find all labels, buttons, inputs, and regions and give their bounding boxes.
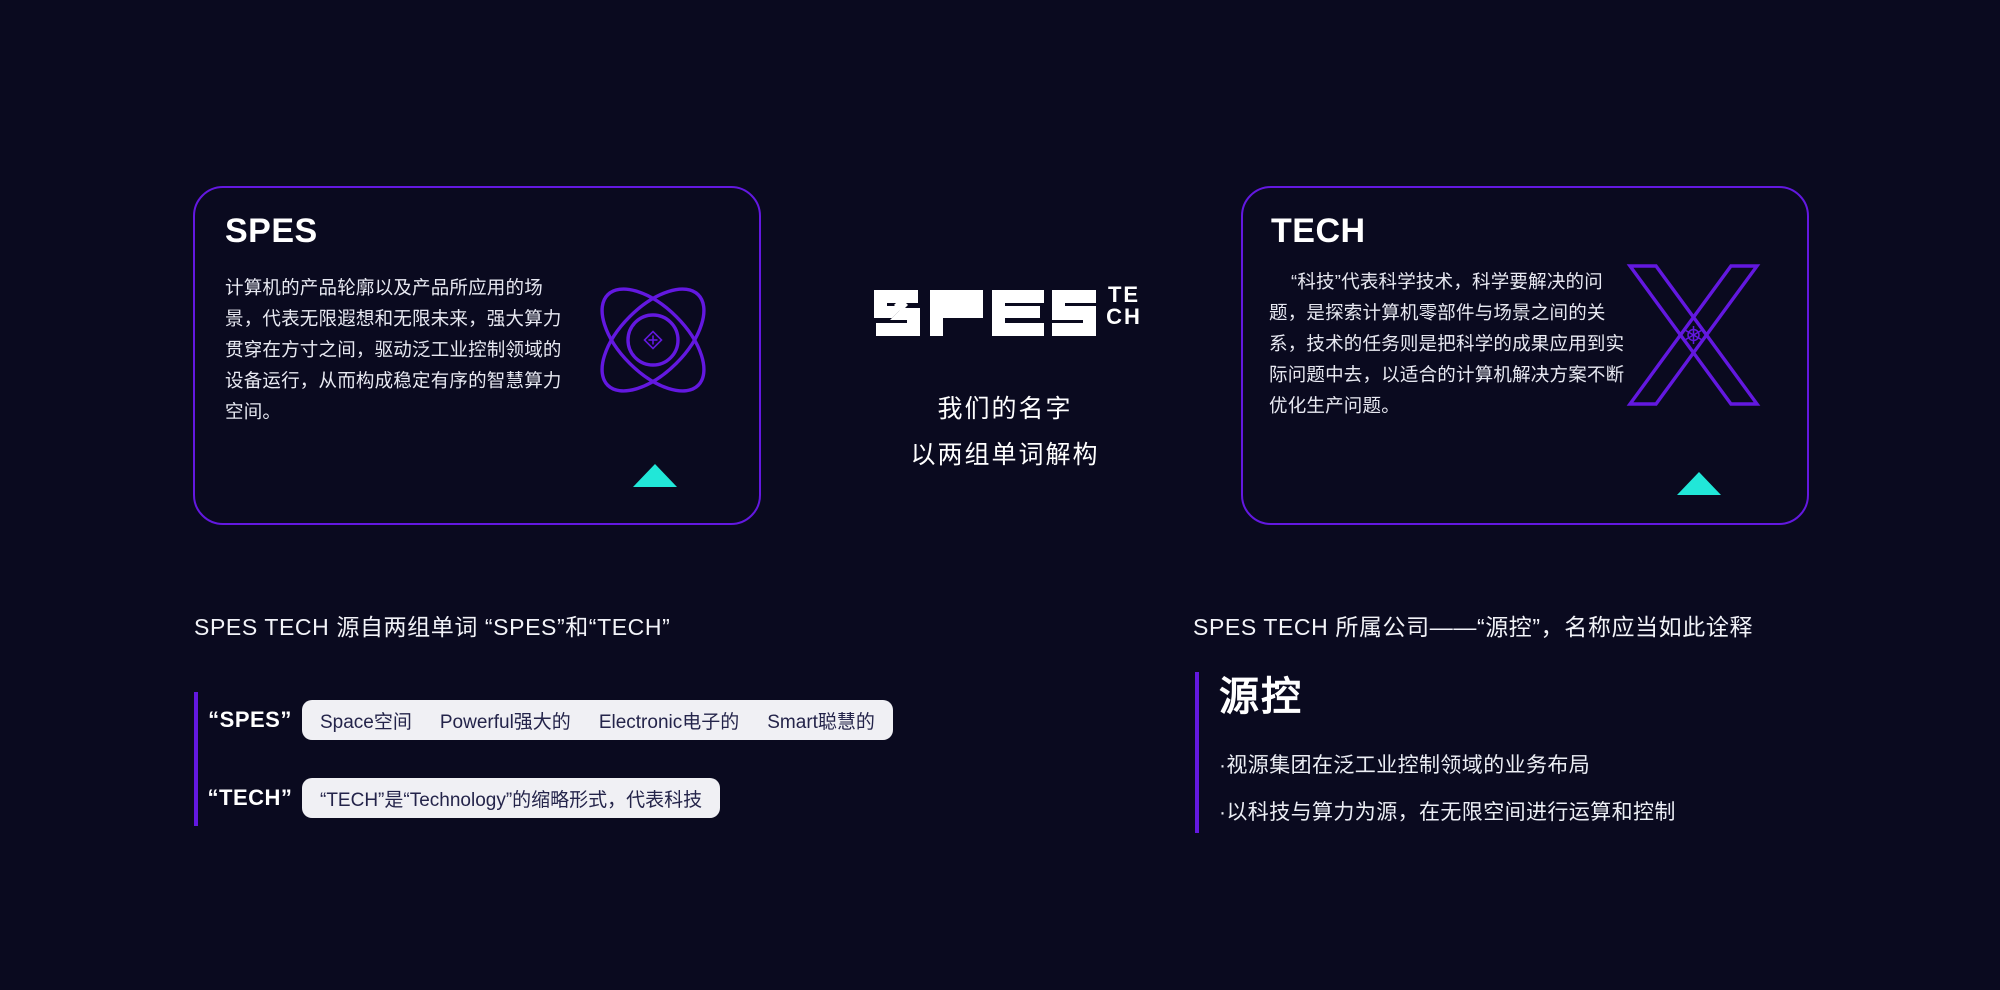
- company-bullet-list: ·视源集团在泛工业控制领域的业务布局 ·以科技与算力为源，在无限空间进行运算和控…: [1219, 746, 1895, 833]
- center-tagline: 我们的名字 以两组单词解构: [855, 386, 1155, 478]
- center-logo-block: TE CH 我们的名字 以两组单词解构: [855, 282, 1155, 478]
- card-spes-body: 计算机的产品轮廓以及产品所应用的场景，代表无限遐想和无限未来，强大算力贯穿在方寸…: [225, 272, 572, 427]
- logo-sub-bottom: CH: [1106, 306, 1142, 328]
- logo-sub-top: TE: [1106, 284, 1142, 306]
- list-item: ·视源集团在泛工业控制领域的业务布局: [1219, 746, 1895, 786]
- card-spes-title: SPES: [225, 212, 318, 251]
- atom-orbital-icon: [583, 270, 723, 410]
- x-mark-icon: [1626, 260, 1761, 410]
- breakdown-row-spes: “SPES” Space空间 Powerful强大的 Electronic电子的…: [198, 692, 1014, 748]
- section-heading-right: SPES TECH 所属公司——“源控”，名称应当如此诠释: [1193, 608, 1753, 642]
- breakdown-key-tech: “TECH”: [198, 785, 302, 811]
- poster-canvas: SPES 计算机的产品轮廓以及产品所应用的场景，代表无限遐想和无限未来，强大算力…: [0, 0, 2000, 990]
- card-tech-body: “科技”代表科学技术，科学要解决的问题，是探索计算机零部件与场景之间的关系，技术…: [1269, 266, 1629, 421]
- breakdown-pill-spes: Space空间 Powerful强大的 Electronic电子的 Smart聪…: [302, 700, 893, 740]
- breakdown-row-tech: “TECH” “TECH”是“Technology”的缩略形式，代表科技: [198, 770, 1014, 826]
- cyan-triangle-icon: [633, 464, 677, 487]
- breakdown-key-spes: “SPES”: [198, 707, 302, 733]
- pill-item: Powerful强大的: [440, 707, 571, 734]
- spes-tech-breakdown-list: “SPES” Space空间 Powerful强大的 Electronic电子的…: [194, 692, 1014, 826]
- pill-item: Smart聪慧的: [767, 707, 875, 734]
- company-brand-name: 源控: [1219, 672, 1895, 722]
- spes-tech-logo: TE CH: [855, 282, 1155, 344]
- cyan-triangle-icon: [1677, 472, 1721, 495]
- company-brand-block: 源控 ·视源集团在泛工业控制领域的业务布局 ·以科技与算力为源，在无限空间进行运…: [1195, 672, 1895, 833]
- spes-wordmark-icon: [868, 282, 1096, 344]
- pill-item: Space空间: [320, 707, 412, 734]
- card-tech-title: TECH: [1271, 212, 1366, 251]
- tagline-line-1: 我们的名字: [855, 386, 1155, 432]
- tech-wordmark-stack: TE CH: [1106, 282, 1142, 329]
- breakdown-pill-tech: “TECH”是“Technology”的缩略形式，代表科技: [302, 778, 720, 818]
- section-heading-left: SPES TECH 源自两组单词 “SPES”和“TECH”: [194, 608, 670, 642]
- card-tech: TECH “科技”代表科学技术，科学要解决的问题，是探索计算机零部件与场景之间的…: [1241, 186, 1809, 525]
- pill-item: Electronic电子的: [599, 707, 739, 734]
- list-item: ·以科技与算力为源，在无限空间进行运算和控制: [1219, 793, 1895, 833]
- card-spes: SPES 计算机的产品轮廓以及产品所应用的场景，代表无限遐想和无限未来，强大算力…: [193, 186, 761, 525]
- tagline-line-2: 以两组单词解构: [855, 432, 1155, 478]
- pill-item: “TECH”是“Technology”的缩略形式，代表科技: [320, 785, 702, 812]
